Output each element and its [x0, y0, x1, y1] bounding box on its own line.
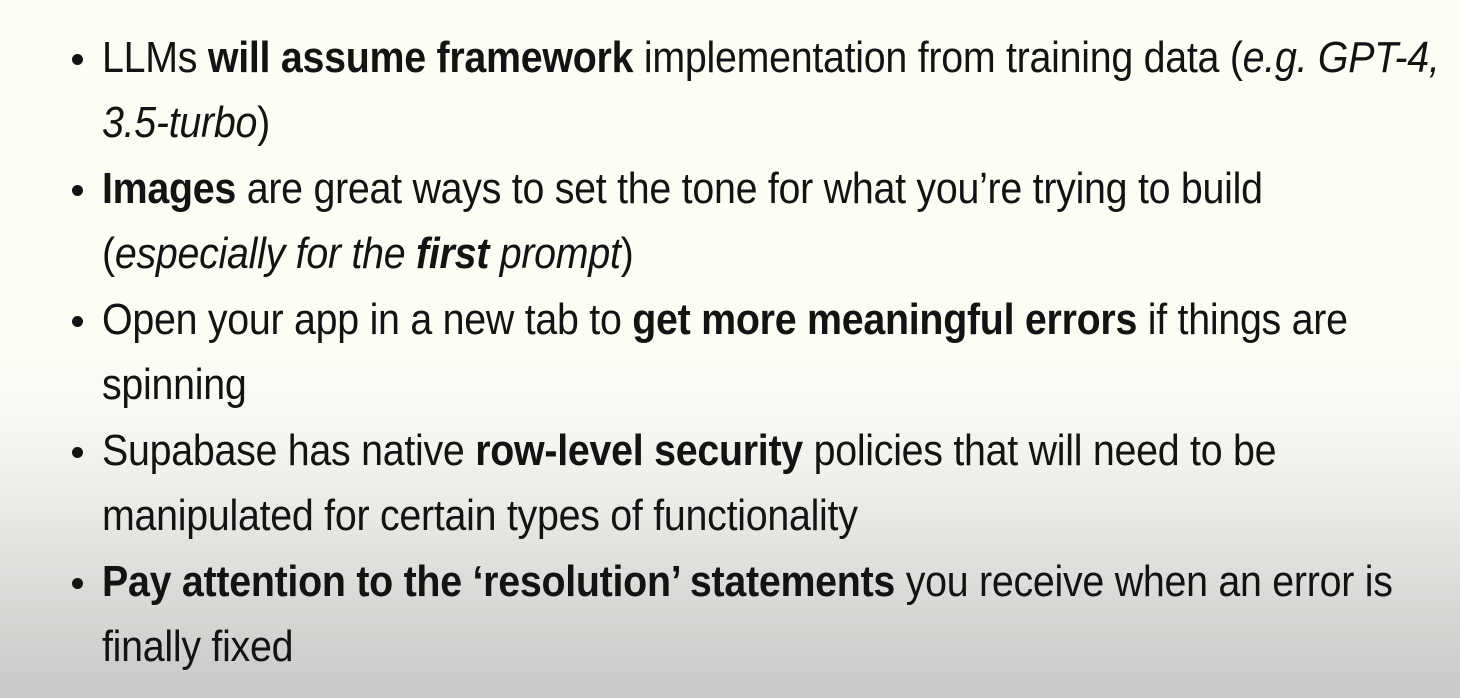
text-run: row-level security: [475, 427, 803, 475]
text-run: especially for the: [115, 230, 416, 278]
bullet-text: Open your app in a new tab to get more m…: [102, 288, 1444, 418]
bullet-dot-icon: [72, 447, 83, 458]
bullet-dot-icon: [72, 578, 83, 589]
bullet-dot-icon: [72, 54, 83, 65]
bullet-item: Open your app in a new tab to get more m…: [64, 288, 1444, 418]
bullet-item: Images are great ways to set the tone fo…: [64, 157, 1444, 287]
bullet-item: Supabase has native row-level security p…: [64, 419, 1444, 549]
text-run: ): [257, 99, 270, 147]
text-run: Images: [102, 165, 236, 213]
bullet-list: LLMs will assume framework implementatio…: [64, 26, 1444, 681]
bullet-item: LLMs will assume framework implementatio…: [64, 26, 1444, 156]
text-run: first: [416, 230, 489, 278]
bullet-text: LLMs will assume framework implementatio…: [102, 26, 1444, 156]
bullet-text: Supabase has native row-level security p…: [102, 419, 1444, 549]
bullet-text: Pay attention to the ‘resolution’ statem…: [102, 550, 1444, 680]
text-run: prompt: [489, 230, 621, 278]
text-run: ): [621, 230, 634, 278]
text-run: LLMs: [102, 34, 208, 82]
text-run: Open your app in a new tab to: [102, 296, 632, 344]
slide-canvas: LLMs will assume framework implementatio…: [0, 0, 1460, 698]
text-run: get more meaningful errors: [632, 296, 1137, 344]
bullet-dot-icon: [72, 185, 83, 196]
text-run: Pay attention to the ‘resolution’ statem…: [102, 558, 895, 606]
text-run: Supabase has native: [102, 427, 475, 475]
text-run: implementation from training data (: [633, 34, 1242, 82]
text-run: will assume framework: [208, 34, 633, 82]
bullet-item: Pay attention to the ‘resolution’ statem…: [64, 550, 1444, 680]
bullet-text: Images are great ways to set the tone fo…: [102, 157, 1444, 287]
bullet-dot-icon: [72, 316, 83, 327]
